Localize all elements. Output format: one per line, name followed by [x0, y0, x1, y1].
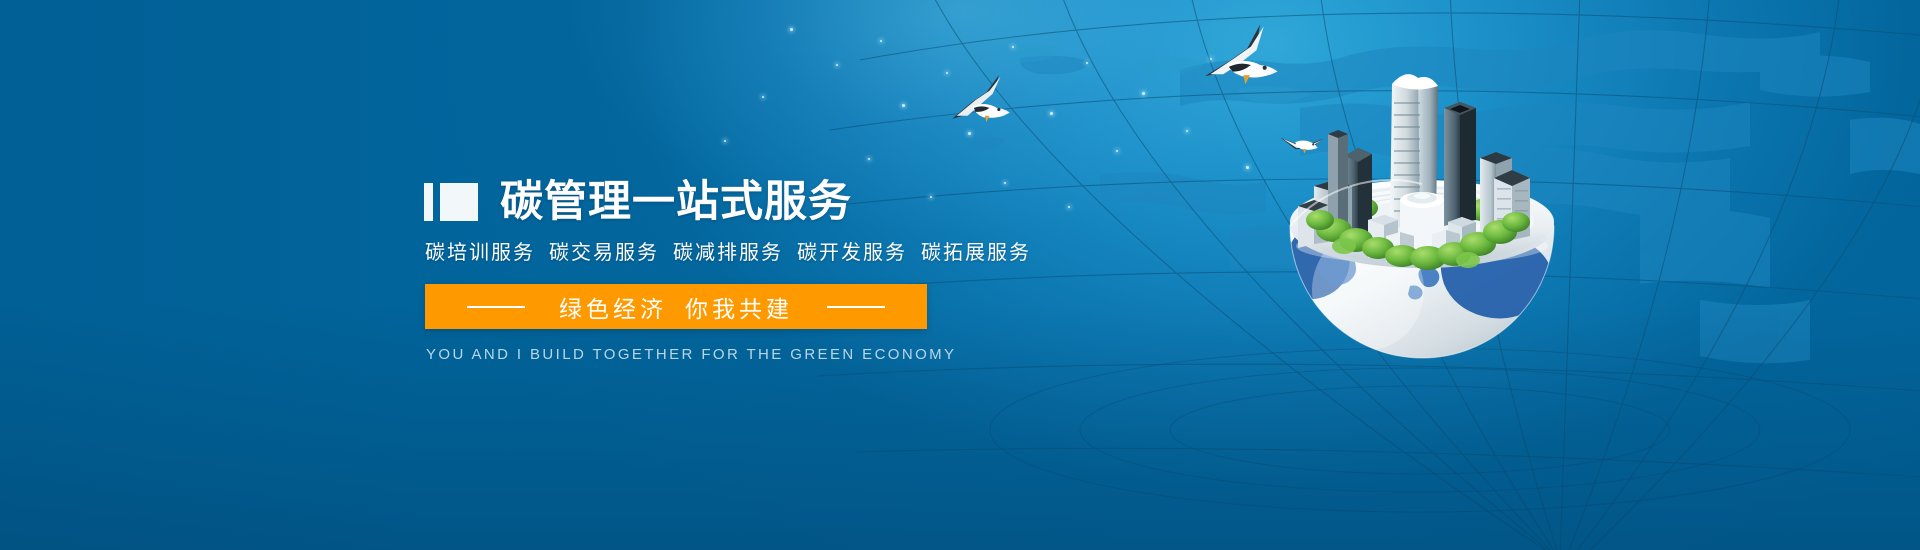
hero-banner: 碳管理一站式服务 碳培训服务碳交易服务碳减排服务碳开发服务碳拓展服务 绿色经济你… — [0, 0, 1920, 550]
service-item-2[interactable]: 碳交易服务 — [549, 242, 659, 264]
service-item-3[interactable]: 碳减排服务 — [673, 242, 783, 264]
slogan-phrase-2: 你我共建 — [685, 296, 793, 322]
page-title: 碳管理一站式服务 — [500, 179, 852, 225]
bar-square-mark-icon — [424, 183, 478, 221]
mark-square — [440, 183, 478, 221]
headline-row: 碳管理一站式服务 — [424, 176, 1064, 228]
slogan-dash-left — [467, 306, 525, 308]
hero-copy: 碳管理一站式服务 碳培训服务碳交易服务碳减排服务碳开发服务碳拓展服务 绿色经济你… — [424, 176, 1064, 364]
slogan-banner[interactable]: 绿色经济你我共建 — [425, 284, 927, 329]
seagull-icon-1 — [938, 58, 1016, 136]
slogan-phrase-1: 绿色经济 — [559, 296, 667, 322]
service-item-4[interactable]: 碳开发服务 — [797, 242, 907, 264]
slogan-text: 绿色经济你我共建 — [559, 290, 793, 324]
tagline-text: YOU AND I BUILD TOGETHER FOR THE GREEN E… — [426, 346, 1064, 364]
mark-bar — [424, 183, 433, 221]
service-item-1[interactable]: 碳培训服务 — [425, 242, 535, 264]
service-item-5[interactable]: 碳拓展服务 — [921, 242, 1031, 264]
service-list: 碳培训服务碳交易服务碳减排服务碳开发服务碳拓展服务 — [425, 241, 1064, 265]
earth-hemisphere-icon — [1272, 30, 1572, 420]
seagull-icon-2 — [1192, 8, 1284, 100]
slogan-dash-right — [827, 306, 885, 308]
